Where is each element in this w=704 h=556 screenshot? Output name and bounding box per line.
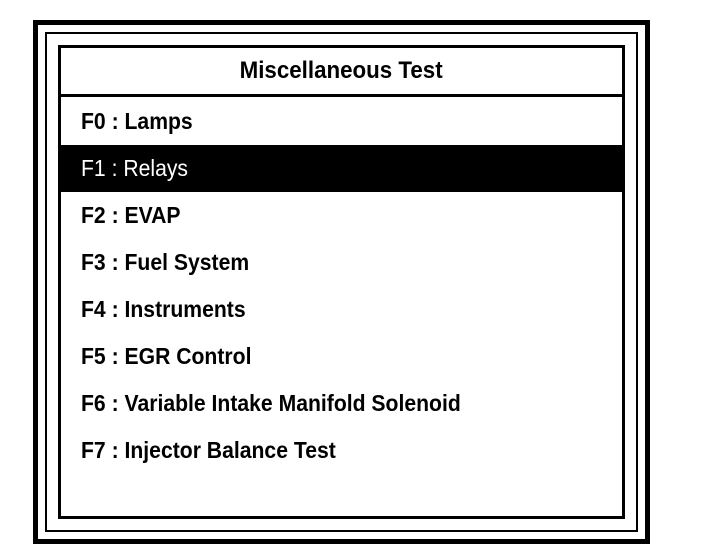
menu-item-f2[interactable]: F2 : EVAP	[61, 192, 622, 239]
menu-item-label: F6 : Variable Intake Manifold Solenoid	[81, 392, 461, 415]
menu-panel: Miscellaneous Test F0 : Lamps F1 : Relay…	[58, 45, 625, 519]
menu-item-f4[interactable]: F4 : Instruments	[61, 286, 622, 333]
page-title: Miscellaneous Test	[240, 59, 443, 83]
device-screen-middle-frame: Miscellaneous Test F0 : Lamps F1 : Relay…	[45, 32, 638, 532]
menu-item-label: F5 : EGR Control	[81, 345, 251, 368]
menu-item-f3[interactable]: F3 : Fuel System	[61, 239, 622, 286]
menu-item-f5[interactable]: F5 : EGR Control	[61, 333, 622, 380]
menu-item-f1[interactable]: F1 : Relays	[61, 145, 622, 192]
menu-item-label: F2 : EVAP	[81, 204, 181, 227]
device-screen-outer-frame: Miscellaneous Test F0 : Lamps F1 : Relay…	[33, 20, 650, 544]
menu-item-f6[interactable]: F6 : Variable Intake Manifold Solenoid	[61, 380, 622, 427]
menu-item-f7[interactable]: F7 : Injector Balance Test	[61, 427, 622, 474]
menu-item-label: F4 : Instruments	[81, 298, 246, 321]
menu-item-label: F1 : Relays	[81, 157, 188, 180]
menu-list: F0 : Lamps F1 : Relays F2 : EVAP F3 : Fu…	[61, 97, 622, 516]
menu-title-bar: Miscellaneous Test	[61, 48, 622, 97]
menu-item-label: F7 : Injector Balance Test	[81, 439, 336, 462]
menu-item-f0[interactable]: F0 : Lamps	[61, 98, 622, 145]
menu-item-label: F0 : Lamps	[81, 110, 193, 133]
menu-item-label: F3 : Fuel System	[81, 251, 249, 274]
